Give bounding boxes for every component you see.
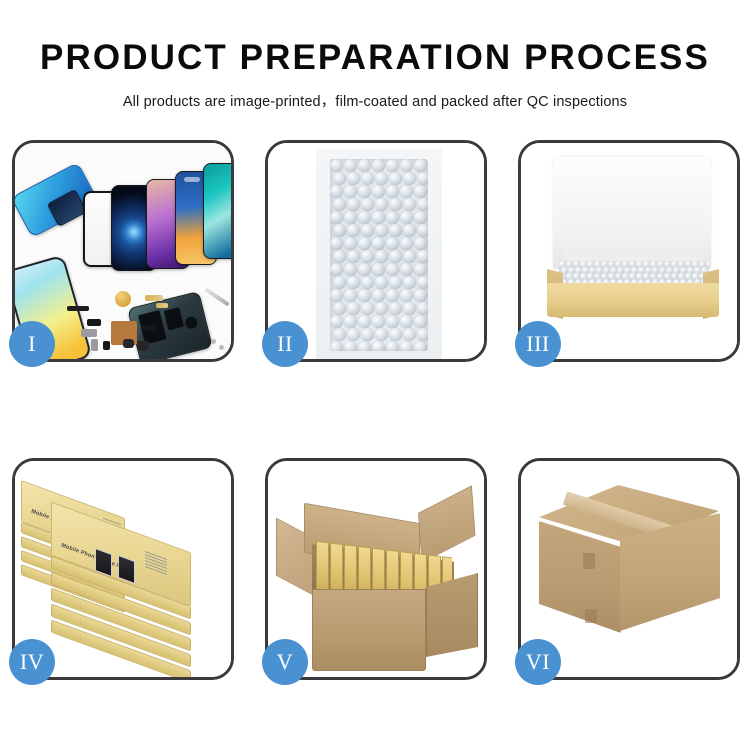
bubble bbox=[403, 302, 416, 315]
box-inner-wall bbox=[563, 195, 703, 261]
bubble bbox=[375, 250, 388, 263]
bubble bbox=[400, 237, 413, 250]
bubble bbox=[375, 224, 388, 237]
step-card-2[interactable]: II bbox=[265, 140, 487, 362]
bubble bbox=[358, 341, 371, 351]
bubble bbox=[389, 250, 402, 263]
bubble bbox=[389, 172, 402, 185]
bubble bbox=[344, 211, 357, 224]
bubble bbox=[403, 328, 416, 341]
bubble bbox=[417, 198, 428, 211]
bubble bbox=[386, 237, 399, 250]
bubble bbox=[386, 185, 399, 198]
box-front-panel bbox=[547, 283, 719, 317]
bubble bbox=[372, 341, 385, 351]
bubble bbox=[361, 198, 374, 211]
bubble bbox=[400, 341, 413, 351]
carton-mark-2 bbox=[585, 609, 597, 623]
step-card-5[interactable]: V bbox=[265, 458, 487, 680]
part-tweezers-icon bbox=[204, 288, 229, 307]
bubble bbox=[400, 289, 413, 302]
bubble bbox=[386, 341, 399, 351]
bubble bbox=[344, 263, 357, 276]
process-row-top: I II bbox=[12, 140, 740, 362]
bubble bbox=[403, 172, 416, 185]
bubble bbox=[333, 302, 346, 315]
bubble bbox=[400, 159, 413, 172]
carton-mark-1 bbox=[583, 553, 595, 569]
bubble bbox=[389, 198, 402, 211]
bubble bbox=[389, 328, 402, 341]
bubble bbox=[344, 289, 357, 302]
bubble bbox=[330, 159, 343, 172]
bubble bbox=[372, 211, 385, 224]
bubble bbox=[358, 315, 371, 328]
bubble bbox=[417, 250, 428, 263]
bubble bbox=[372, 185, 385, 198]
bubble bbox=[386, 211, 399, 224]
part-flex-cable-2-icon bbox=[156, 303, 168, 308]
bubble-wrapped-item bbox=[330, 159, 428, 351]
bubble bbox=[344, 315, 357, 328]
carton-flap-right bbox=[418, 485, 475, 563]
carton-side-panel bbox=[426, 573, 478, 657]
bubble bbox=[400, 185, 413, 198]
bubble bbox=[372, 237, 385, 250]
bubble bbox=[333, 250, 346, 263]
bubble bbox=[400, 263, 413, 276]
step-badge-1: I bbox=[9, 321, 55, 367]
carton-front-panel bbox=[312, 589, 426, 671]
product-preparation-process-page: PRODUCT PREPARATION PROCESS All products… bbox=[0, 0, 750, 750]
bubble bbox=[347, 224, 360, 237]
part-sensor-icon bbox=[141, 325, 157, 331]
bubble bbox=[361, 250, 374, 263]
bubble bbox=[344, 237, 357, 250]
bubble bbox=[358, 211, 371, 224]
bubble bbox=[417, 224, 428, 237]
box-stack: Mobile Phone Spare Parts bbox=[19, 475, 231, 673]
bubble bbox=[403, 224, 416, 237]
bubble bbox=[330, 237, 343, 250]
bubble bbox=[414, 159, 427, 172]
bubble bbox=[344, 185, 357, 198]
bubble bbox=[403, 250, 416, 263]
bubble-grid bbox=[330, 159, 428, 351]
bubble bbox=[375, 198, 388, 211]
process-grid: I II bbox=[12, 140, 740, 680]
bubble bbox=[333, 224, 346, 237]
bubble bbox=[361, 276, 374, 289]
bubble bbox=[361, 328, 374, 341]
bubble bbox=[344, 159, 357, 172]
step-badge-3: III bbox=[515, 321, 561, 367]
bubble bbox=[361, 172, 374, 185]
step-badge-2: II bbox=[262, 321, 308, 367]
bubble bbox=[414, 263, 427, 276]
bubble bbox=[403, 276, 416, 289]
bubble bbox=[333, 328, 346, 341]
bubble bbox=[372, 159, 385, 172]
bubble bbox=[375, 328, 388, 341]
teal-wave-phone-icon bbox=[203, 163, 231, 259]
part-camera-icon bbox=[123, 339, 134, 348]
bubble bbox=[372, 289, 385, 302]
step-card-4[interactable]: Mobile Phone Spare Parts bbox=[12, 458, 234, 680]
part-coil-icon bbox=[115, 291, 131, 307]
part-screw-icon bbox=[211, 339, 216, 344]
bubble bbox=[400, 315, 413, 328]
bubble bbox=[361, 224, 374, 237]
header: PRODUCT PREPARATION PROCESS All products… bbox=[0, 0, 750, 111]
part-sim-tray-icon bbox=[91, 339, 98, 351]
bubble bbox=[347, 250, 360, 263]
bubble bbox=[414, 315, 427, 328]
bubble bbox=[330, 263, 343, 276]
bubble bbox=[333, 198, 346, 211]
bubble bbox=[333, 276, 346, 289]
bubble bbox=[400, 211, 413, 224]
bubble bbox=[389, 302, 402, 315]
bubble bbox=[414, 211, 427, 224]
step-badge-5: V bbox=[262, 639, 308, 685]
bubble bbox=[417, 302, 428, 315]
bubble bbox=[358, 237, 371, 250]
bubble bbox=[330, 211, 343, 224]
bubble bbox=[375, 276, 388, 289]
bubble bbox=[375, 172, 388, 185]
bubble bbox=[386, 159, 399, 172]
bubble bbox=[386, 315, 399, 328]
bubble bbox=[333, 172, 346, 185]
bubble bbox=[361, 302, 374, 315]
bubble bbox=[344, 341, 357, 351]
bubble bbox=[330, 341, 343, 351]
step-card-3[interactable]: III bbox=[518, 140, 740, 362]
bubble bbox=[358, 159, 371, 172]
bubble bbox=[375, 302, 388, 315]
step-badge-6: VI bbox=[515, 639, 561, 685]
part-module-icon bbox=[87, 319, 101, 326]
packed-box bbox=[330, 542, 343, 596]
bubble bbox=[417, 276, 428, 289]
bubble bbox=[414, 185, 427, 198]
bubble bbox=[347, 328, 360, 341]
bubble bbox=[417, 328, 428, 341]
bubble bbox=[330, 289, 343, 302]
bubble bbox=[414, 341, 427, 351]
part-screw-2-icon bbox=[219, 345, 224, 350]
part-ribbon-icon bbox=[67, 306, 89, 311]
bubble bbox=[389, 276, 402, 289]
step-card-1[interactable]: I bbox=[12, 140, 234, 362]
bubble bbox=[414, 237, 427, 250]
bubble bbox=[414, 289, 427, 302]
bubble bbox=[386, 263, 399, 276]
part-bracket-icon bbox=[81, 329, 97, 337]
bubble bbox=[358, 263, 371, 276]
page-title: PRODUCT PREPARATION PROCESS bbox=[0, 38, 750, 78]
bubble bbox=[403, 198, 416, 211]
part-button-icon bbox=[103, 341, 110, 350]
part-speaker-icon bbox=[137, 341, 149, 351]
bubble bbox=[330, 185, 343, 198]
bubble bbox=[358, 185, 371, 198]
bubble bbox=[358, 289, 371, 302]
bubble bbox=[372, 315, 385, 328]
bubble bbox=[347, 198, 360, 211]
bubble bbox=[389, 224, 402, 237]
bubble bbox=[330, 315, 343, 328]
bubble bbox=[386, 289, 399, 302]
bubble bbox=[372, 263, 385, 276]
packed-box bbox=[316, 541, 329, 595]
part-flex-cable-icon bbox=[145, 295, 163, 301]
bubble bbox=[417, 172, 428, 185]
bubble bbox=[347, 302, 360, 315]
step-card-6[interactable]: VI bbox=[518, 458, 740, 680]
page-subtitle: All products are image-printed，film-coat… bbox=[0, 90, 750, 111]
bubble bbox=[347, 276, 360, 289]
step-badge-4: IV bbox=[9, 639, 55, 685]
process-row-bottom: Mobile Phone Spare Parts bbox=[12, 458, 740, 680]
bubble bbox=[347, 172, 360, 185]
